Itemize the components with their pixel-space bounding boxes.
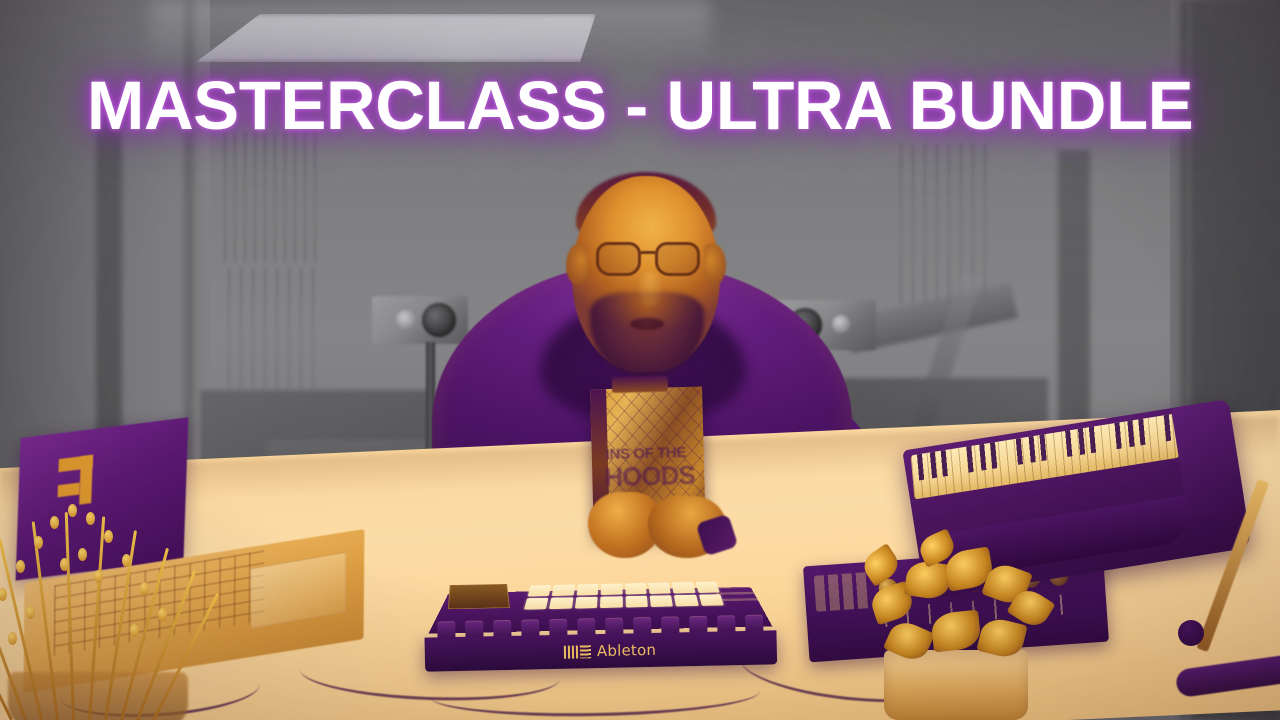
ear-right <box>704 244 726 284</box>
dried-flower-plant <box>0 496 220 720</box>
push-pad-grid <box>524 582 724 610</box>
push-side-buttons <box>716 580 762 606</box>
studio-monitor-left <box>372 296 468 344</box>
push-display <box>448 584 510 609</box>
ableton-bars-icon <box>564 645 591 659</box>
acoustic-diffuser-panel-lower <box>226 268 316 388</box>
page-title: MASTERCLASS - ULTRA BUNDLE <box>0 72 1280 140</box>
ableton-brand-label: Ableton <box>597 641 657 660</box>
acoustic-diffuser-panel <box>222 132 318 262</box>
microphone-stand-joint <box>1178 620 1204 646</box>
thumbnail-canvas: INS OF THE HOODS Ableton <box>0 0 1280 720</box>
record-sleeve-line2: HOODS <box>604 463 701 490</box>
ableton-brand-mark: Ableton <box>564 641 657 661</box>
eyeglasses <box>596 242 700 278</box>
ceiling-light-panel <box>196 14 596 62</box>
ear-left <box>566 244 588 284</box>
potted-plant <box>862 520 1082 720</box>
mouth <box>630 318 664 330</box>
